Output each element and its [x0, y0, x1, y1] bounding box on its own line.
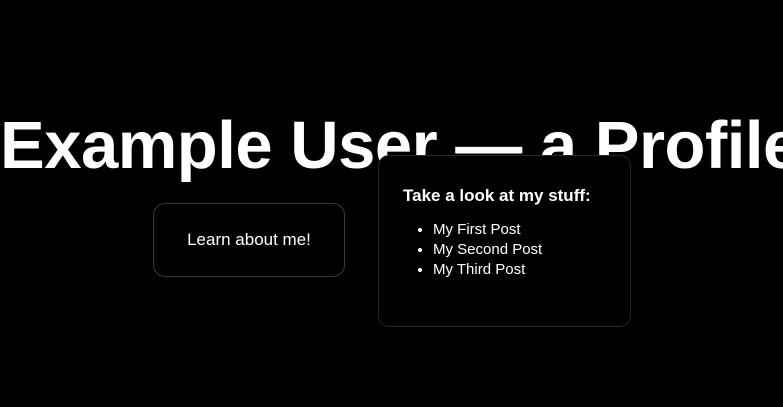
learn-about-me-button[interactable]: Learn about me!: [153, 203, 345, 277]
stuff-card-heading: Take a look at my stuff:: [403, 186, 606, 206]
list-item[interactable]: My First Post: [433, 220, 606, 240]
profile-page: Example User — a Profile Learn about me!…: [0, 0, 783, 407]
post-list: My First Post My Second Post My Third Po…: [403, 220, 606, 280]
list-item[interactable]: My Second Post: [433, 240, 606, 260]
stuff-card: Take a look at my stuff: My First Post M…: [378, 155, 631, 327]
content-row: Learn about me! Take a look at my stuff:…: [0, 152, 783, 328]
list-item[interactable]: My Third Post: [433, 260, 606, 280]
